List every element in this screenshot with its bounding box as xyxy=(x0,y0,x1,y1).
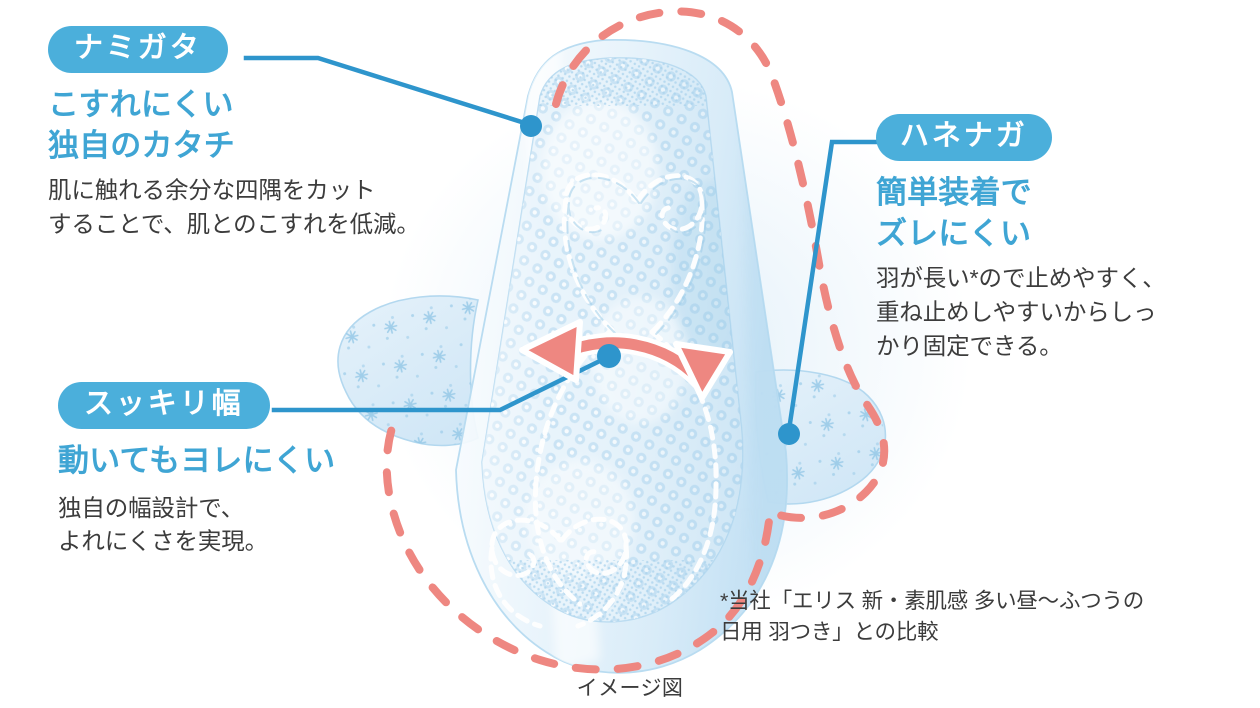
body-namigata: 肌に触れる余分な四隅をカット することで、肌とのこすれを低減。 xyxy=(48,174,420,242)
leader-endpoint-dots xyxy=(520,115,800,445)
badge-namigata[interactable]: ナミガタ xyxy=(48,26,228,73)
width-double-arrow xyxy=(522,322,730,398)
headline-hanenaga: 簡単装着で ズレにくい xyxy=(876,173,1166,254)
badge-sukkirihaba[interactable]: スッキリ幅 xyxy=(58,382,270,429)
pad-body xyxy=(456,40,800,673)
headline-sukkirihaba: 動いてもヨレにくい xyxy=(58,441,335,481)
callout-sukkirihaba: スッキリ幅 動いてもヨレにくい 独自の幅設計で、 よれにくさを実現。 xyxy=(58,382,335,559)
leader-dot-sukkirihaba xyxy=(597,344,621,368)
badge-hanenaga[interactable]: ハネナガ xyxy=(876,114,1052,161)
pad-core xyxy=(470,40,770,640)
pad-emboss-shadow xyxy=(567,178,705,335)
infographic-stage: ナミガタ こすれにくい 独自のカタチ 肌に触れる余分な四隅をカット することで、… xyxy=(0,0,1260,708)
callout-namigata: ナミガタ こすれにくい 独自のカタチ 肌に触れる余分な四隅をカット することで、… xyxy=(48,26,420,242)
pad-wing-right xyxy=(740,350,920,530)
body-sukkirihaba: 独自の幅設計で、 よれにくさを実現。 xyxy=(58,492,335,560)
callout-hanenaga: ハネナガ 簡単装着で ズレにくい 羽が長い*ので止めやすく、 重ね止めしやすいか… xyxy=(876,114,1166,363)
headline-namigata: こすれにくい 独自のカタチ xyxy=(48,85,420,166)
original-shape-dashed-outline xyxy=(387,11,885,669)
pad-embossed-stitching xyxy=(491,175,716,626)
leader-dot-namigata xyxy=(520,115,542,137)
footnote-comparison: *当社「エリス 新・素肌感 多い昼〜ふつうの 日用 羽つき」との比較 xyxy=(720,586,1220,647)
leader-dot-hanenaga xyxy=(778,423,800,445)
body-hanenaga: 羽が長い*ので止めやすく、 重ね止めしやすいからしっ かり固定できる。 xyxy=(876,262,1166,363)
pad-wing-left xyxy=(330,280,510,460)
image-caption: イメージ図 xyxy=(0,672,1260,702)
leader-line-hanenaga xyxy=(789,142,876,430)
